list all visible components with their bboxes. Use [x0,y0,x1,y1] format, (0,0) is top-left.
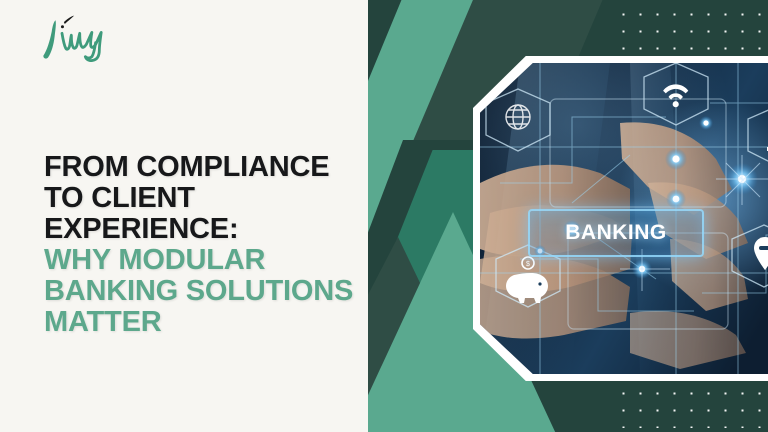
headline-block: FROM COMPLIANCE TO CLIENT EXPERIENCE: WH… [44,152,414,338]
headline-line-3: EXPERIENCE: [44,214,414,245]
svg-text:$: $ [526,261,530,268]
hero-photo: $ [480,63,768,374]
blog-banner: $ [0,0,768,432]
hero-photo-frame: $ [473,56,768,381]
right-decorative-panel: $ [368,0,768,432]
subheadline-line-2: BANKING SOLUTIONS [44,276,414,307]
jiway-logo-mark [34,14,146,62]
headline-line-2: TO CLIENT [44,183,414,214]
banking-label-text: BANKING [565,221,667,245]
bank-hexagon [748,105,768,167]
subheadline-line-1: WHY MODULAR [44,245,414,276]
headline-line-1: FROM COMPLIANCE [44,152,414,183]
jiway-logo[interactable] [34,14,144,62]
subheadline-line-3: MATTER [44,307,414,338]
location-pin-icon [754,237,768,270]
banking-overlay-label: BANKING [528,209,704,257]
